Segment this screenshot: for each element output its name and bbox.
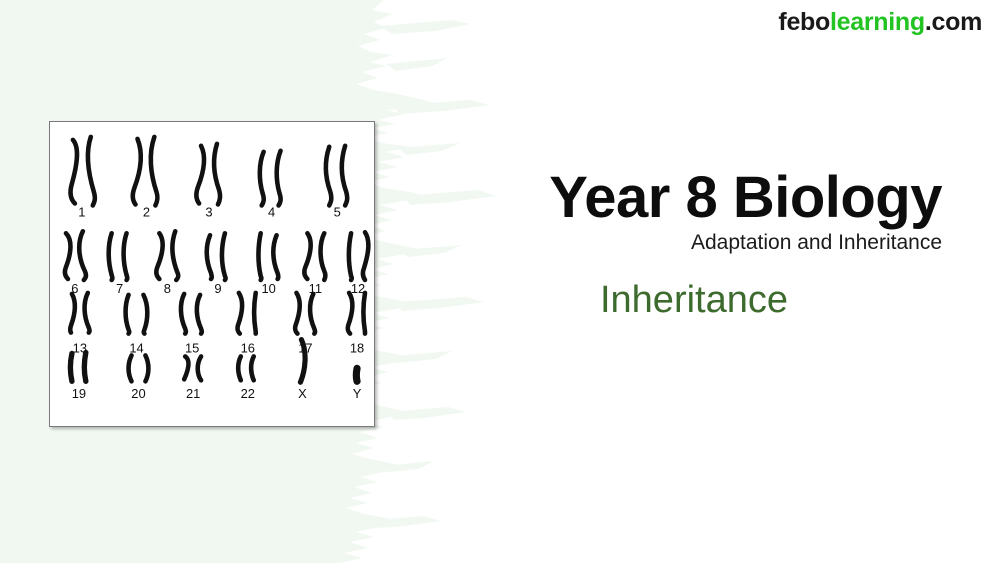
logo-part-domain: .com: [925, 8, 982, 36]
page-title: Year 8 Biology: [472, 168, 942, 227]
chromosome-label: 10: [261, 281, 275, 296]
panel-tendril-6: [400, 245, 462, 257]
chromosome-label: 3: [205, 204, 212, 219]
chromosome-label: 1: [78, 204, 85, 219]
chromosome-label: 14: [129, 340, 143, 355]
chromosome-strokes: [65, 137, 368, 382]
chromosome-label: 8: [164, 281, 171, 296]
panel-tendril-2: [386, 58, 448, 71]
site-logo: febolearning.com: [778, 8, 982, 37]
page-subtitle: Adaptation and Inheritance: [472, 231, 942, 254]
panel-tendril-11: [376, 516, 440, 528]
chromosome-label: 12: [351, 281, 365, 296]
chromosome-label: 9: [214, 281, 221, 296]
panel-tendril-8: [392, 351, 452, 363]
panel-tendril-10: [382, 461, 434, 472]
chromosome-label: 22: [241, 386, 255, 401]
logo-part-febo: febo: [778, 8, 830, 36]
title-block: Year 8 Biology Adaptation and Inheritanc…: [472, 168, 942, 322]
chromosome-label: 17: [298, 340, 312, 355]
chromosome-label: 20: [131, 386, 145, 401]
chromosome-labels: 1 2 3 4 5 6 7 8 9 10 11 12 13 14 15 16 1…: [71, 204, 365, 401]
panel-tendril-1: [380, 20, 470, 34]
chromosome-label: 11: [309, 281, 322, 296]
chromosome-label: 19: [72, 386, 86, 401]
chromosome-label: 4: [268, 204, 275, 219]
chromosome-label: 21: [186, 386, 200, 401]
chromosome-label: 2: [143, 204, 150, 219]
panel-tendril-4: [398, 143, 460, 155]
panel-tendril-3: [392, 100, 490, 114]
panel-tendril-9: [388, 407, 466, 420]
logo-part-learning: learning: [830, 8, 925, 36]
chromosome-label: 16: [241, 340, 255, 355]
chromosome-label: 5: [334, 204, 341, 219]
karyotype-image: 1 2 3 4 5 6 7 8 9 10 11 12 13 14 15 16 1…: [49, 121, 375, 427]
panel-tendril-7: [396, 297, 484, 311]
chromosome-label: 15: [185, 340, 199, 355]
chromosome-label: X: [298, 386, 307, 401]
chromosome-label: Y: [353, 386, 362, 401]
chromosome-label: 7: [116, 281, 123, 296]
lesson-title: Inheritance: [472, 280, 942, 322]
chromosome-label: 13: [73, 340, 87, 355]
chromosome-label: 6: [71, 281, 78, 296]
slide: febolearning.com: [0, 0, 1000, 563]
chromosome-label: 18: [350, 340, 364, 355]
